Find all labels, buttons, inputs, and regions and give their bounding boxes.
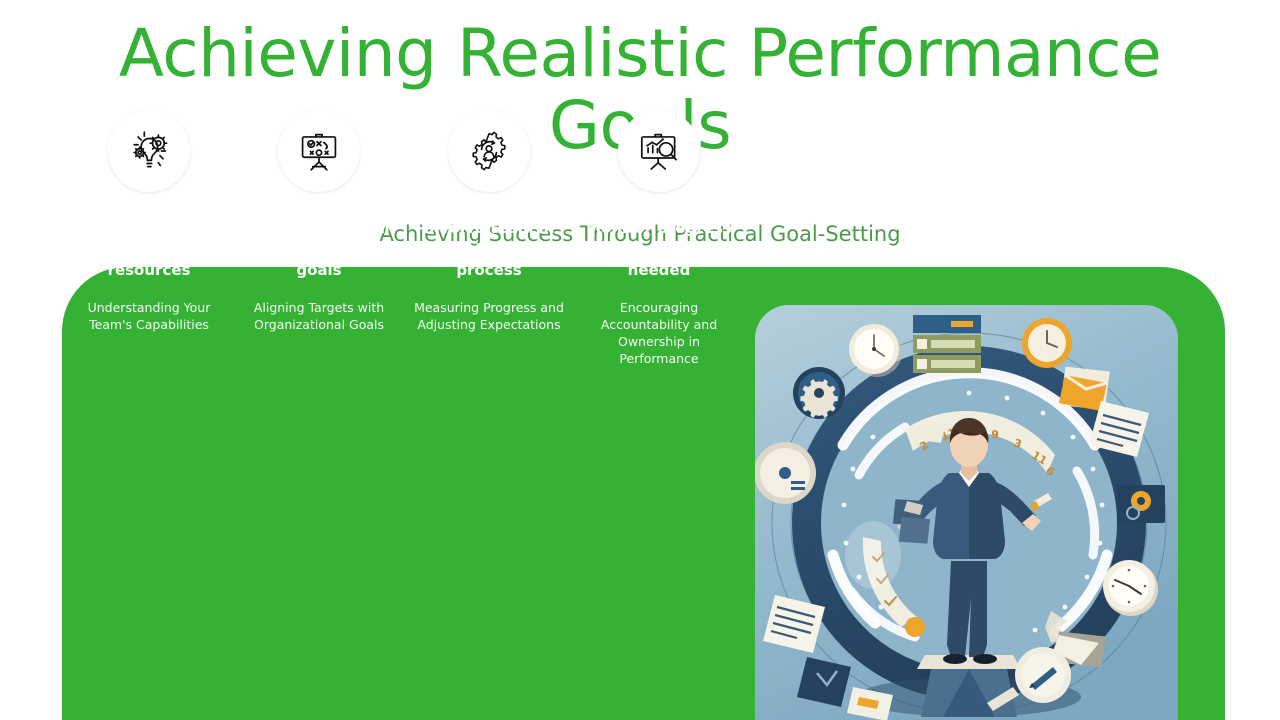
- features-row: Assess current capabilities and resource…: [64, 110, 744, 440]
- svg-text:9: 9: [991, 428, 1000, 442]
- orange-coin-icon: [905, 617, 925, 637]
- feature-description: Encouraging Accountability and Ownership…: [584, 299, 734, 367]
- monitor-gear-icon: [1117, 485, 1165, 523]
- lightbulb-gear-icon: [108, 110, 190, 192]
- gear-dial-icon: [793, 367, 845, 419]
- feature-title: Involve team in target-setting process: [407, 218, 571, 281]
- feature-description: Measuring Progress and Adjusting Expecta…: [414, 299, 564, 333]
- feature-card-assess[interactable]: Assess current capabilities and resource…: [64, 110, 234, 333]
- orange-clock-icon: [1022, 318, 1072, 368]
- glow: [845, 521, 901, 589]
- feature-card-involve[interactable]: Involve team in target-setting process M…: [404, 110, 574, 333]
- feature-title: Align targets with organizational goals: [237, 218, 401, 281]
- pen-badge-icon: [1015, 647, 1071, 703]
- feature-title: Monitor progress and adjust as needed: [577, 218, 741, 281]
- feature-title: Assess current capabilities and resource…: [67, 218, 231, 281]
- feature-card-align[interactable]: Align targets with organizational goals …: [234, 110, 404, 333]
- businessman-time-management-illustration: 2 11 9 9 3 11 6: [755, 305, 1178, 720]
- chart-board-magnifier-icon: [618, 110, 700, 192]
- feature-description: Understanding Your Team's Capabilities: [74, 299, 224, 333]
- illustration-artwork: 2 11 9 9 3 11 6: [755, 305, 1178, 720]
- pedestal: [917, 655, 1021, 717]
- file-folders-icon: [913, 315, 981, 373]
- feature-description: Aligning Targets with Organizational Goa…: [244, 299, 394, 333]
- slide-canvas: Achieving Realistic Performance Goals Ac…: [0, 0, 1280, 720]
- gear-person-cycle-icon: [448, 110, 530, 192]
- round-device-icon: [755, 442, 816, 504]
- strategy-board-icon: [278, 110, 360, 192]
- feature-card-monitor[interactable]: Monitor progress and adjust as needed En…: [574, 110, 744, 367]
